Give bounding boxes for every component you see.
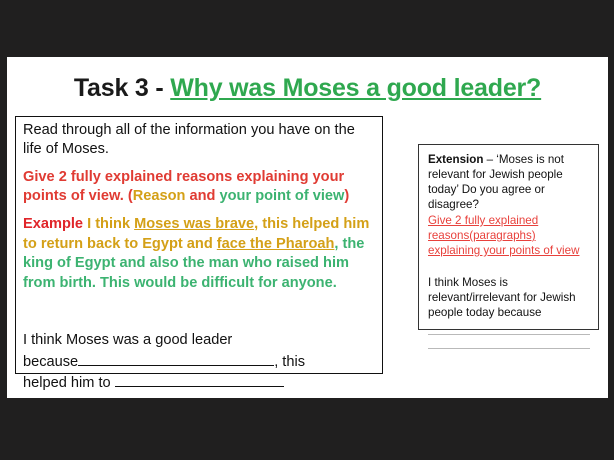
extension-writing-lines [428,334,590,349]
answer-blank-2[interactable] [115,372,284,387]
main-task-box: Read through all of the information you … [15,116,383,374]
extension-rule-1[interactable] [428,334,590,335]
title-question-text: Why was Moses a good leader? [170,74,541,102]
example-underlined-action: face the Pharoah [217,236,335,252]
extension-box: Extension – ‘Moses is not relevant for J… [418,144,599,330]
intro-paragraph: Read through all of the information you … [23,121,375,158]
example-underlined-reason: Moses was brave [134,216,254,232]
instruction-reason-word: Reason [133,188,186,204]
extension-label: Extension [428,153,483,166]
instruction-paragraph: Give 2 fully explained reasons explainin… [23,168,375,205]
answer-line-1: I think Moses was a good leader [23,332,232,348]
instruction-viewpoint-word: your point of view [220,188,345,204]
title-task-label: Task 3 - [74,74,170,102]
extension-task-text: Give 2 fully explained reasons(paragraph… [428,213,590,258]
page-title: Task 3 - Why was Moses a good leader? [7,74,608,103]
example-paragraph: Example I think Moses was brave, this he… [23,215,375,293]
instruction-close-paren: ) [344,188,349,204]
screenshot-root: Task 3 - Why was Moses a good leader? Re… [0,0,614,460]
example-label: Example [23,216,83,232]
slide-canvas: Task 3 - Why was Moses a good leader? Re… [7,57,608,398]
extension-heading: Extension – ‘Moses is not relevant for J… [428,152,590,212]
extension-sentence-starter: I think Moses is relevant/irrelevant for… [428,275,590,320]
answer-blank-1[interactable] [78,351,274,366]
extension-rule-2[interactable] [428,348,590,349]
instruction-conjunction: and [185,188,219,204]
answer-because-label: because [23,354,78,370]
answer-frame: I think Moses was a good leader because,… [23,331,375,394]
answer-after-blank-1: , this [274,354,305,370]
answer-helped-label: helped him to [23,375,111,391]
example-gold-lead: I think [83,216,134,232]
